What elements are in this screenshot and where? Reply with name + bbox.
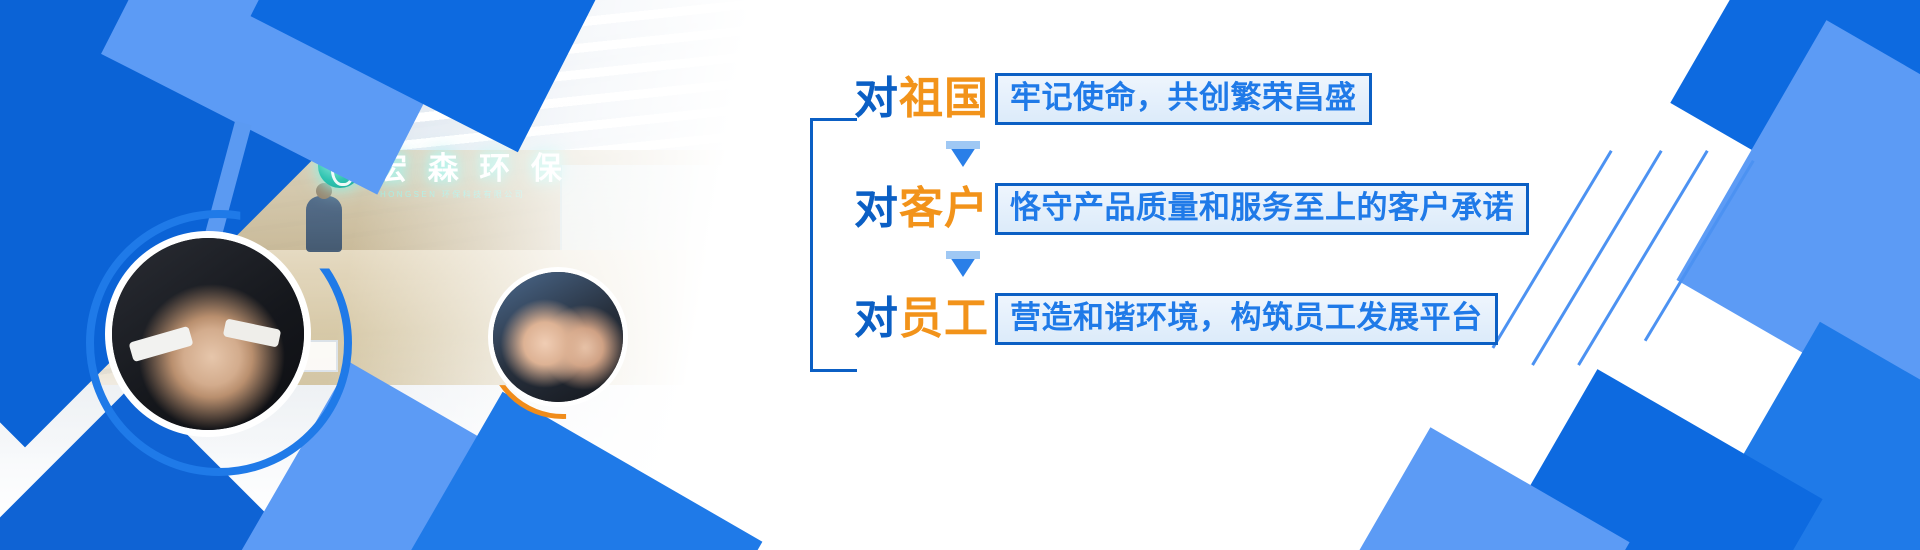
value-lead-customer: 对客户 [854,187,989,231]
applause-image [493,272,623,402]
applause-photo [493,272,623,402]
value-lead-subject-employee: 员工 [899,294,989,343]
value-lead-prefix-country: 对 [854,74,899,123]
value-lead-employee: 对员工 [854,297,989,341]
corporate-values-banner: 宏 森 环 保 HONGSEN 环保科技有限公司 对祖国 牢记使命， [0,0,1920,550]
value-statement-employee: 营造和谐环境，构筑员工发展平台 [995,293,1498,345]
value-row-customer: 对客户 恪守产品质量和服务至上的客户承诺 [854,180,1700,238]
value-statement-customer: 恪守产品质量和服务至上的客户承诺 [995,183,1529,235]
values-bracket [810,118,857,372]
value-lead-prefix-customer: 对 [854,184,899,233]
arrow-row-2 [854,238,1700,290]
value-row-country: 对祖国 牢记使命，共创繁荣昌盛 [854,70,1700,128]
down-arrow-icon-2 [946,251,980,277]
value-lead-country: 对祖国 [854,77,989,121]
value-lead-prefix-employee: 对 [854,294,899,343]
arrow-row-1 [854,128,1700,180]
down-arrow-icon-1 [946,141,980,167]
value-lead-subject-customer: 客户 [899,184,989,233]
value-statement-country: 牢记使命，共创繁荣昌盛 [995,73,1372,125]
value-lead-subject-country: 祖国 [899,74,989,123]
values-rows: 对祖国 牢记使命，共创繁荣昌盛 对客户 恪守产品质量和服务至上的客户承诺 对员工… [854,70,1700,348]
values-section: 对祖国 牢记使命，共创繁荣昌盛 对客户 恪守产品质量和服务至上的客户承诺 对员工… [800,70,1700,400]
handshake-photo [112,238,304,430]
value-row-employee: 对员工 营造和谐环境，构筑员工发展平台 [854,290,1700,348]
